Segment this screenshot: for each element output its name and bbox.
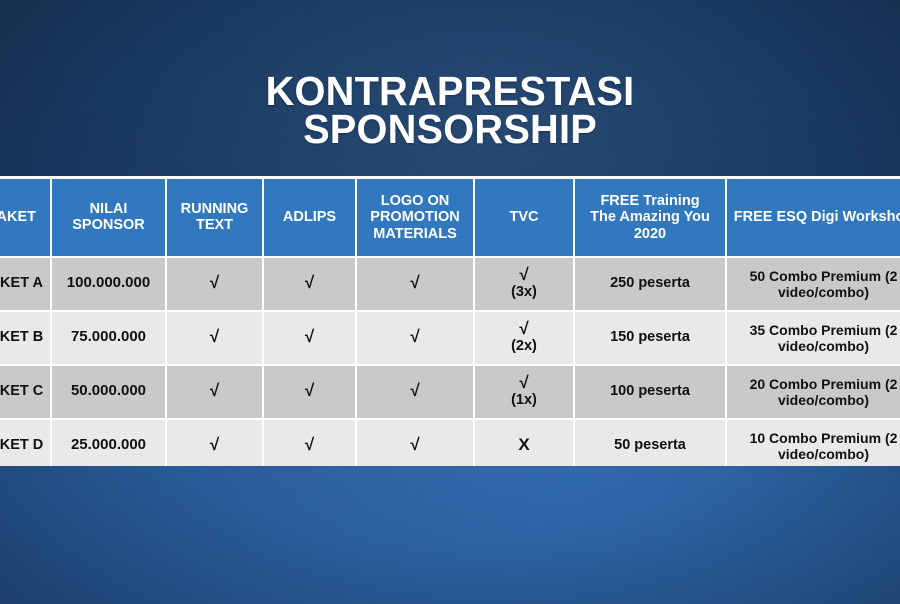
column-header-tvc-label: TVC bbox=[510, 209, 539, 225]
table-row: PAKET C 50.000.000 √ √ √ √ (1x) 100 pese… bbox=[0, 365, 900, 419]
column-header-logo-line-3: MATERIALS bbox=[373, 226, 457, 242]
cell-paket: PAKET A bbox=[0, 257, 51, 311]
slide-title-line-2: SPONSORSHIP bbox=[14, 110, 887, 148]
column-header-esq-label: FREE ESQ Digi Workshop bbox=[734, 209, 900, 225]
cell-paket: PAKET B bbox=[0, 311, 51, 365]
cell-free-esq-digi-workshop: 50 Combo Premium (2 video/combo) bbox=[726, 257, 900, 311]
column-header-nilai-sponsor: NILAI SPONSOR bbox=[51, 178, 166, 257]
cell-nilai-sponsor: 50.000.000 bbox=[51, 365, 166, 419]
slide-title: KONTRAPRESTASI SPONSORSHIP bbox=[14, 72, 887, 148]
cell-esq-line-1: 35 Combo Premium (2 bbox=[750, 322, 898, 338]
column-header-running-text: RUNNING TEXT bbox=[166, 178, 263, 257]
cell-free-training: 50 peserta bbox=[574, 419, 726, 467]
column-header-free-esq-digi-workshop: FREE ESQ Digi Workshop bbox=[726, 178, 900, 257]
cell-tvc-count: (3x) bbox=[480, 284, 568, 301]
cell-nilai-sponsor: 25.000.000 bbox=[51, 419, 166, 467]
column-header-free-training-line-1: FREE Training bbox=[600, 193, 699, 209]
cell-tvc: √ (3x) bbox=[474, 257, 574, 311]
column-header-running-line-2: TEXT bbox=[196, 217, 233, 233]
cell-paket: PAKET C bbox=[0, 365, 51, 419]
column-header-free-training-line-2: The Amazing You bbox=[590, 209, 710, 225]
cell-free-esq-digi-workshop: 35 Combo Premium (2 video/combo) bbox=[726, 311, 900, 365]
column-header-adlips-label: ADLIPS bbox=[283, 209, 336, 225]
column-header-paket: PAKET bbox=[0, 178, 51, 257]
cell-free-esq-digi-workshop: 20 Combo Premium (2 video/combo) bbox=[726, 365, 900, 419]
table-row: PAKET B 75.000.000 √ √ √ √ (2x) 150 pese… bbox=[0, 311, 900, 365]
table-header: PAKET NILAI SPONSOR RUNNING TEXT ADLIPS bbox=[0, 178, 900, 257]
cell-tvc-mark: √ bbox=[519, 319, 528, 338]
cell-esq-line-2: video/combo) bbox=[732, 284, 900, 300]
cell-adlips: √ bbox=[263, 419, 356, 467]
column-header-free-training: FREE Training The Amazing You 2020 bbox=[574, 178, 726, 257]
cell-running-text: √ bbox=[166, 419, 263, 467]
cell-adlips: √ bbox=[263, 311, 356, 365]
column-header-paket-label: PAKET bbox=[0, 209, 36, 225]
cell-esq-line-1: 20 Combo Premium (2 bbox=[750, 376, 898, 392]
cell-logo: √ bbox=[356, 365, 474, 419]
column-header-free-training-line-3: 2020 bbox=[634, 226, 666, 242]
cell-running-text: √ bbox=[166, 257, 263, 311]
cell-tvc: √ (1x) bbox=[474, 365, 574, 419]
cell-logo: √ bbox=[356, 311, 474, 365]
kontraprestasi-table: PAKET NILAI SPONSOR RUNNING TEXT ADLIPS bbox=[0, 176, 900, 466]
cell-esq-line-1: 10 Combo Premium (2 bbox=[750, 430, 898, 446]
cell-logo: √ bbox=[356, 419, 474, 467]
cell-esq-line-2: video/combo) bbox=[732, 392, 900, 408]
cell-tvc-mark: √ bbox=[519, 373, 528, 392]
cell-nilai-sponsor: 75.000.000 bbox=[51, 311, 166, 365]
cell-esq-line-2: video/combo) bbox=[732, 446, 900, 462]
table-body: PAKET A 100.000.000 √ √ √ √ (3x) 250 pes… bbox=[0, 257, 900, 467]
column-header-adlips: ADLIPS bbox=[263, 178, 356, 257]
cell-tvc: √ (2x) bbox=[474, 311, 574, 365]
table-header-row: PAKET NILAI SPONSOR RUNNING TEXT ADLIPS bbox=[0, 178, 900, 257]
cell-tvc-mark: X bbox=[518, 435, 529, 454]
cell-running-text: √ bbox=[166, 365, 263, 419]
cell-nilai-sponsor: 100.000.000 bbox=[51, 257, 166, 311]
cell-esq-line-1: 50 Combo Premium (2 bbox=[750, 268, 898, 284]
cell-free-training: 150 peserta bbox=[574, 311, 726, 365]
table-row: PAKET D 25.000.000 √ √ √ X 50 peserta 10… bbox=[0, 419, 900, 467]
presentation-slide: KONTRAPRESTASI SPONSORSHIP PAKET NILAI S… bbox=[0, 0, 900, 604]
cell-free-training: 250 peserta bbox=[574, 257, 726, 311]
cell-esq-line-2: video/combo) bbox=[732, 338, 900, 354]
cell-paket: PAKET D bbox=[0, 419, 51, 467]
slide-title-line-1: KONTRAPRESTASI bbox=[14, 72, 887, 110]
column-header-nilai-line-1: NILAI bbox=[90, 201, 128, 217]
column-header-nilai-line-2: SPONSOR bbox=[72, 217, 145, 233]
cell-running-text: √ bbox=[166, 311, 263, 365]
cell-free-training: 100 peserta bbox=[574, 365, 726, 419]
column-header-logo-line-2: PROMOTION bbox=[370, 209, 459, 225]
cell-tvc-mark: √ bbox=[519, 265, 528, 284]
cell-adlips: √ bbox=[263, 365, 356, 419]
cell-adlips: √ bbox=[263, 257, 356, 311]
cell-tvc-count: (2x) bbox=[480, 338, 568, 355]
cell-tvc: X bbox=[474, 419, 574, 467]
column-header-logo-on-promotion-materials: LOGO ON PROMOTION MATERIALS bbox=[356, 178, 474, 257]
column-header-logo-line-1: LOGO ON bbox=[381, 193, 449, 209]
column-header-tvc: TVC bbox=[474, 178, 574, 257]
cell-free-esq-digi-workshop: 10 Combo Premium (2 video/combo) bbox=[726, 419, 900, 467]
cell-logo: √ bbox=[356, 257, 474, 311]
table-row: PAKET A 100.000.000 √ √ √ √ (3x) 250 pes… bbox=[0, 257, 900, 311]
column-header-running-line-1: RUNNING bbox=[181, 201, 249, 217]
cell-tvc-count: (1x) bbox=[480, 392, 568, 409]
kontraprestasi-table-container: PAKET NILAI SPONSOR RUNNING TEXT ADLIPS bbox=[0, 176, 900, 466]
